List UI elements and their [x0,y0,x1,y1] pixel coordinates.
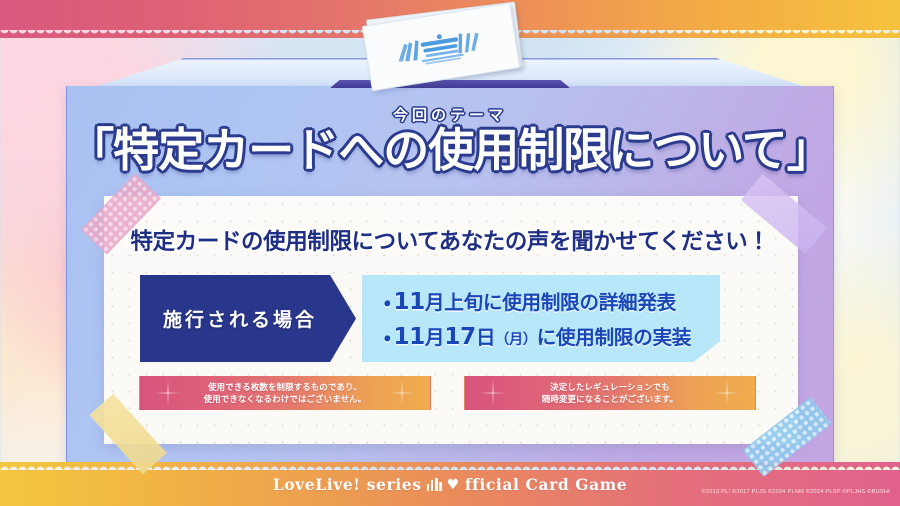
bullet-2-day-unit: 日 [476,326,495,349]
bullet-1-month: 11 [393,289,425,315]
bullet-2-day: 17 [444,324,476,350]
note-ribbon-right: 決定したレギュレーションでも 随時変更になることがございます。 [464,376,756,410]
lovelive-logo-icon [390,23,492,74]
bullet-marker-1: ・ [384,291,390,314]
theme-label: 今回のテーマ [0,104,900,125]
bullet-2-month: 11 [393,324,425,350]
brand-name-post: fficial Card Game [465,475,627,494]
note-right-line-2: 随時変更になることがございます。 [542,394,678,404]
sparkle-icon [480,380,506,406]
brand-bars-icon [427,478,442,491]
schedule-bullet-1: ・11月上旬に使用制限の詳細発表 [384,286,704,315]
ballot-slot-icon [330,80,570,88]
note-ribbon-left: 使用できる枚数を制限するものであり、 使用できなくなるわけではございません。 [139,376,431,410]
bullet-marker-2: ・ [384,326,390,349]
bullet-1-rest: 上旬に使用制限の詳細発表 [444,291,676,314]
brand-logo: LoveLive! series ♥fficial Card Game [273,475,628,494]
page-title: 「特定カードへの使用制限について」 [0,124,900,177]
subtitle-text: 特定カードの使用制限についてあなたの声を聞かせてください！ [131,224,770,256]
bullet-1-month-unit: 月 [425,291,444,314]
schedule-card: ・11月上旬に使用制限の詳細発表 ・11月17日（月）に使用制限の実装 [362,275,720,362]
schedule-bullet-2: ・11月17日（月）に使用制限の実装 [384,321,704,350]
bullet-2-weekday: （月） [495,332,536,348]
bullet-2-rest: に使用制限の実装 [537,326,691,349]
announcement-graphic: 今回のテーマ 「特定カードへの使用制限について」 特定カードの使用制限についてあ… [0,0,900,506]
condition-chip-label: 施行される場合 [163,305,333,332]
condition-chip: 施行される場合 [140,275,356,362]
sparkle-icon [714,380,740,406]
copyright-text: ©2013 PL! ©2017 PLJS ©2024 PLNM ©2024 PL… [701,489,890,495]
note-ribbon-right-text: 決定したレギュレーションでも 随時変更になることがございます。 [542,381,678,405]
note-left-line-2: 使用できなくなるわけではございません。 [204,394,367,404]
bullet-2-month-unit: 月 [425,326,444,349]
sparkle-icon [155,380,181,406]
note-right-line-1: 決定したレギュレーションでも [550,382,670,392]
brand-name-pre: LoveLive! series [273,475,422,494]
subtitle-block: 特定カードの使用制限についてあなたの声を聞かせてください！ [0,224,900,256]
sparkle-icon [389,380,415,406]
note-ribbon-left-text: 使用できる枚数を制限するものであり、 使用できなくなるわけではございません。 [204,381,367,405]
heart-icon: ♥ [447,478,460,492]
note-left-line-1: 使用できる枚数を制限するものであり、 [208,382,362,392]
